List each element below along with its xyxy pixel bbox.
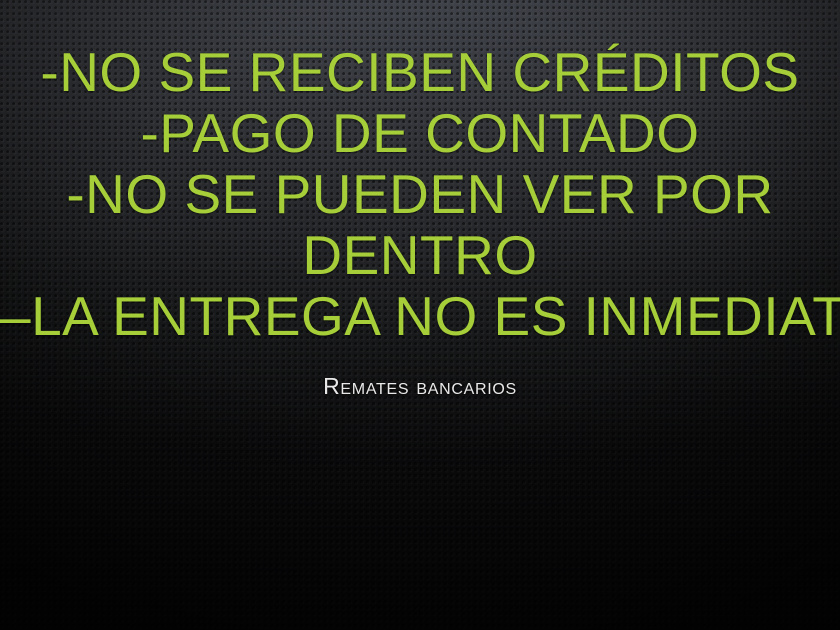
title-line-4: DENTRO — [0, 225, 840, 286]
title-line-1: -NO SE RECIBEN CRÉDITOS — [0, 42, 840, 103]
slide-subtitle: Remates bancarios — [323, 373, 517, 400]
slide-title: -NO SE RECIBEN CRÉDITOS -PAGO DE CONTADO… — [0, 42, 840, 347]
title-line-3: -NO SE PUEDEN VER POR — [0, 164, 840, 225]
title-line-2: -PAGO DE CONTADO — [0, 103, 840, 164]
slide-content: -NO SE RECIBEN CRÉDITOS -PAGO DE CONTADO… — [0, 0, 840, 630]
presentation-slide: -NO SE RECIBEN CRÉDITOS -PAGO DE CONTADO… — [0, 0, 840, 630]
title-line-5: –LA ENTREGA NO ES INMEDIATA — [0, 286, 840, 347]
